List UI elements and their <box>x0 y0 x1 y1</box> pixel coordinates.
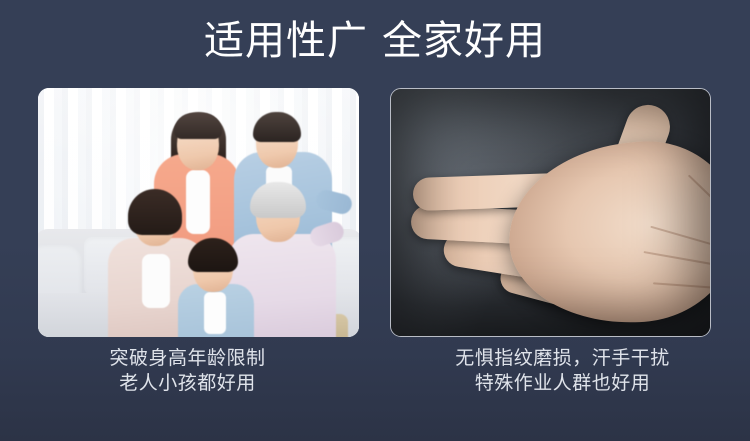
panel-family[interactable] <box>38 88 359 337</box>
page-title-part2: 全家好用 <box>382 19 546 63</box>
caption-palm: 无惧指纹磨损，汗手干扰 特殊作业人群也好用 <box>375 346 750 416</box>
page-title-part1: 适用性广 <box>204 19 368 63</box>
caption-palm-line2: 特殊作业人群也好用 <box>375 371 750 396</box>
caption-family-line1: 突破身高年龄限制 <box>109 348 265 369</box>
caption-family: 突破身高年龄限制 老人小孩都好用 <box>0 346 375 416</box>
palm-photo <box>391 89 710 336</box>
panel-palm[interactable] <box>390 88 711 337</box>
caption-row: 突破身高年龄限制 老人小孩都好用 无惧指纹磨损，汗手干扰 特殊作业人群也好用 <box>0 346 750 416</box>
feature-banner: 适用性广全家好用 <box>0 0 750 441</box>
caption-palm-line1: 无惧指纹磨损，汗手干扰 <box>455 348 670 369</box>
caption-family-line2: 老人小孩都好用 <box>0 371 375 396</box>
page-title: 适用性广全家好用 <box>0 16 750 66</box>
vignette-overlay <box>391 89 710 336</box>
panel-row <box>0 88 750 338</box>
family-photo <box>38 88 359 337</box>
photo-highlight-overlay <box>38 88 359 337</box>
